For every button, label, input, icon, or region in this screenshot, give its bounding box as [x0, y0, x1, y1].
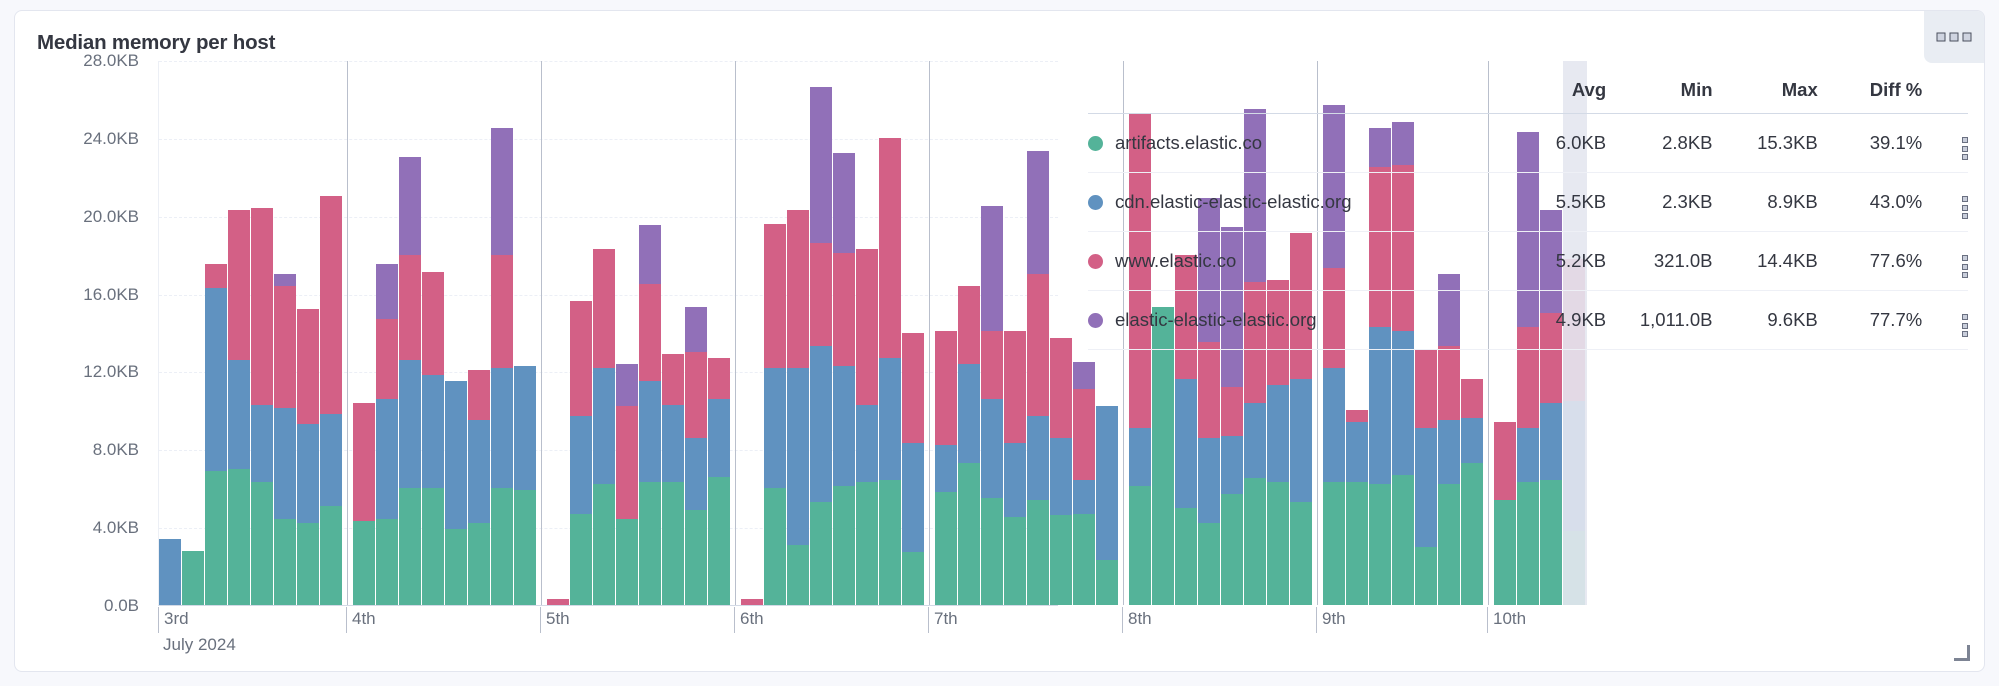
bar-segment[interactable]	[1438, 346, 1460, 420]
bar[interactable]	[1346, 410, 1368, 605]
col-header-max[interactable]: Max	[1713, 73, 1818, 114]
col-header-series	[1088, 73, 1502, 114]
bar-segment[interactable]	[228, 210, 250, 360]
bar-segment[interactable]	[353, 403, 375, 522]
bar-segment[interactable]	[879, 138, 901, 358]
bar-segment[interactable]	[468, 523, 490, 605]
bar-segment[interactable]	[491, 128, 513, 255]
bar[interactable]	[593, 249, 615, 605]
bar-segment[interactable]	[1461, 379, 1483, 418]
bar[interactable]	[547, 599, 569, 605]
bar[interactable]	[685, 307, 707, 605]
bar-segment[interactable]	[662, 354, 684, 405]
series-label: elastic-elastic-elastic.org	[1115, 309, 1317, 331]
bar-segment[interactable]	[182, 551, 204, 606]
bar-segment[interactable]	[376, 399, 398, 520]
bar-segment[interactable]	[1198, 438, 1220, 524]
bar-segment[interactable]	[1323, 482, 1345, 605]
bar[interactable]	[708, 358, 730, 605]
bar-segment[interactable]	[1346, 410, 1368, 422]
col-header-min[interactable]: Min	[1606, 73, 1712, 114]
bar-segment[interactable]	[1129, 428, 1151, 486]
series-color-swatch-icon	[1088, 136, 1103, 151]
bar-segment[interactable]	[1438, 420, 1460, 484]
bar-segment[interactable]	[399, 157, 421, 254]
bar-segment[interactable]	[1050, 438, 1072, 516]
gridline	[159, 61, 1058, 62]
legend-series-cell[interactable]: www.elastic.co	[1088, 232, 1502, 291]
bar[interactable]	[958, 286, 980, 605]
table-row[interactable]: artifacts.elastic.co6.0KB2.8KB15.3KB39.1…	[1088, 114, 1968, 173]
bar[interactable]	[1096, 406, 1118, 605]
bar-segment[interactable]	[902, 333, 924, 444]
bar-segment[interactable]	[833, 366, 855, 487]
x-axis-tick-label: 6th	[734, 607, 764, 633]
bar-segment[interactable]	[981, 206, 1003, 331]
bar-segment[interactable]	[639, 284, 661, 381]
x-axis-tick-label: 10th	[1487, 607, 1526, 633]
vertical-grip-icon[interactable]	[1962, 196, 1968, 219]
bar-segment[interactable]	[810, 243, 832, 346]
legend-max-value: 8.9KB	[1713, 173, 1818, 232]
bar[interactable]	[1004, 331, 1026, 605]
bar-segment[interactable]	[764, 224, 786, 368]
legend-rows: artifacts.elastic.co6.0KB2.8KB15.3KB39.1…	[1088, 114, 1968, 350]
bar[interactable]	[741, 599, 763, 605]
bar-segment[interactable]	[685, 352, 707, 438]
table-header-row: Avg Min Max Diff %	[1088, 73, 1968, 114]
bar-segment[interactable]	[879, 480, 901, 605]
plot-area[interactable]	[158, 61, 1058, 606]
bar-segment[interactable]	[639, 225, 661, 283]
bar[interactable]	[1415, 350, 1437, 605]
bar[interactable]	[399, 157, 421, 605]
bar-segment[interactable]	[1096, 560, 1118, 605]
legend-diff-value: 39.1%	[1818, 114, 1922, 173]
bar-segment[interactable]	[810, 87, 832, 243]
bar-segment[interactable]	[1221, 494, 1243, 605]
bar-segment[interactable]	[1415, 547, 1437, 605]
bar-segment[interactable]	[1517, 428, 1539, 483]
bar-segment[interactable]	[1027, 416, 1049, 500]
bar-segment[interactable]	[833, 153, 855, 252]
bar-segment[interactable]	[491, 255, 513, 368]
legend-diff-value: 77.7%	[1818, 291, 1922, 350]
bar[interactable]	[981, 206, 1003, 605]
bar[interactable]	[879, 138, 901, 605]
bar-segment[interactable]	[1438, 484, 1460, 605]
bar-segment[interactable]	[1129, 486, 1151, 605]
legend-diff-value: 43.0%	[1818, 173, 1922, 232]
legend-min-value: 2.3KB	[1606, 173, 1712, 232]
table-row[interactable]: elastic-elastic-elastic.org4.9KB1,011.0B…	[1088, 291, 1968, 350]
y-axis-tick-label: 28.0KB	[39, 51, 139, 71]
bar-segment[interactable]	[879, 358, 901, 481]
bar-segment[interactable]	[1027, 274, 1049, 416]
bar-segment[interactable]	[662, 405, 684, 483]
bar-segment[interactable]	[856, 405, 878, 483]
bar-segment[interactable]	[422, 375, 444, 488]
legend-series-cell[interactable]: artifacts.elastic.co	[1088, 114, 1502, 173]
day-separator	[929, 61, 930, 605]
bar-segment[interactable]	[422, 272, 444, 375]
bar[interactable]	[320, 196, 342, 605]
bar[interactable]	[514, 366, 536, 605]
x-axis-tick-label: 8th	[1122, 607, 1152, 633]
bar[interactable]	[787, 210, 809, 605]
bar-segment[interactable]	[297, 424, 319, 523]
bar-segment[interactable]	[320, 506, 342, 605]
bar-segment[interactable]	[1073, 362, 1095, 389]
bar-segment[interactable]	[251, 405, 273, 483]
bar-segment[interactable]	[297, 309, 319, 424]
bar-segment[interactable]	[422, 488, 444, 605]
bar-segment[interactable]	[810, 346, 832, 502]
series-color-swatch-icon	[1088, 313, 1103, 328]
table-row[interactable]: www.elastic.co5.2KB321.0B14.4KB77.6%	[1088, 232, 1968, 291]
bar-segment[interactable]	[514, 490, 536, 605]
bar-segment[interactable]	[616, 364, 638, 407]
legend-avg-value: 5.2KB	[1502, 232, 1606, 291]
bar[interactable]	[228, 210, 250, 605]
bar[interactable]	[205, 264, 227, 605]
bar-segment[interactable]	[1198, 342, 1220, 437]
bar-segment[interactable]	[1461, 418, 1483, 463]
bar-segment[interactable]	[514, 366, 536, 491]
col-header-diff[interactable]: Diff %	[1818, 73, 1922, 114]
bar-segment[interactable]	[1494, 500, 1516, 605]
bar-segment[interactable]	[353, 521, 375, 605]
y-axis-tick-label: 12.0KB	[39, 362, 139, 382]
bar-segment[interactable]	[1198, 523, 1220, 605]
bar-segment[interactable]	[274, 286, 296, 409]
legend-max-value: 9.6KB	[1713, 291, 1818, 350]
y-axis-tick-label: 4.0KB	[39, 518, 139, 538]
bar-segment[interactable]	[639, 381, 661, 482]
bar-segment[interactable]	[376, 319, 398, 399]
bar[interactable]	[1027, 151, 1049, 605]
bar[interactable]	[764, 224, 786, 606]
bar-segment[interactable]	[981, 399, 1003, 498]
series-label: cdn.elastic-elastic-elastic.org	[1115, 191, 1351, 213]
legend-series-cell[interactable]: elastic-elastic-elastic.org	[1088, 291, 1502, 350]
bar-segment[interactable]	[1050, 515, 1072, 605]
col-header-avg[interactable]: Avg	[1502, 73, 1606, 114]
bar-segment[interactable]	[1369, 327, 1391, 485]
bar-segment[interactable]	[1267, 482, 1289, 605]
bar-segment[interactable]	[958, 463, 980, 605]
panel-menu-button[interactable]	[1924, 11, 1984, 63]
y-axis-tick-label: 24.0KB	[39, 129, 139, 149]
legend-diff-value: 77.6%	[1818, 232, 1922, 291]
y-axis-labels: 0.0B4.0KB8.0KB12.0KB16.0KB20.0KB24.0KB28…	[27, 61, 139, 641]
y-axis-tick-label: 20.0KB	[39, 207, 139, 227]
vertical-grip-icon[interactable]	[1962, 255, 1968, 278]
y-axis-tick-label: 0.0B	[39, 596, 139, 616]
bar-segment[interactable]	[1290, 379, 1312, 502]
bar[interactable]	[856, 249, 878, 605]
bar-segment[interactable]	[1175, 508, 1197, 605]
bar-segment[interactable]	[981, 498, 1003, 605]
x-axis-tick-label: 9th	[1316, 607, 1346, 633]
bar-segment[interactable]	[228, 360, 250, 469]
bar-segment[interactable]	[274, 408, 296, 519]
bar-segment[interactable]	[1346, 482, 1368, 605]
bar-segment[interactable]	[662, 482, 684, 605]
series-label: artifacts.elastic.co	[1115, 132, 1262, 154]
bar-segment[interactable]	[570, 514, 592, 605]
bar-segment[interactable]	[764, 488, 786, 605]
bar[interactable]	[833, 153, 855, 605]
bar-segment[interactable]	[376, 264, 398, 319]
bar-segment[interactable]	[1290, 502, 1312, 605]
x-axis-labels: July 2024 3rd4th5th6th7th8th9th10th	[158, 607, 1058, 667]
series-label: www.elastic.co	[1115, 250, 1236, 272]
bar[interactable]	[159, 539, 181, 605]
bar-segment[interactable]	[856, 249, 878, 405]
bar-segment[interactable]	[1346, 422, 1368, 482]
bar-segment[interactable]	[1244, 478, 1266, 605]
bar-segment[interactable]	[902, 552, 924, 605]
x-axis-tick-label: 4th	[346, 607, 376, 633]
bar-segment[interactable]	[1540, 480, 1562, 605]
bar-segment[interactable]	[274, 519, 296, 605]
bar[interactable]	[639, 225, 661, 605]
bar[interactable]	[353, 403, 375, 605]
bar[interactable]	[468, 369, 490, 605]
bar-segment[interactable]	[376, 519, 398, 605]
grip-three-squares-icon	[1937, 33, 1972, 42]
bar[interactable]	[662, 354, 684, 605]
bar-segment[interactable]	[685, 307, 707, 352]
bar[interactable]	[810, 87, 832, 605]
bar-segment[interactable]	[320, 196, 342, 414]
bar-segment[interactable]	[297, 523, 319, 605]
bar-segment[interactable]	[685, 510, 707, 605]
bar-segment[interactable]	[1073, 514, 1095, 605]
vertical-grip-icon[interactable]	[1962, 137, 1968, 160]
gridline	[159, 217, 1058, 218]
bar-segment[interactable]	[1267, 385, 1289, 482]
bar[interactable]	[902, 333, 924, 606]
resize-corner-icon[interactable]	[1954, 645, 1970, 661]
bar-segment[interactable]	[1221, 436, 1243, 494]
bar-segment[interactable]	[708, 399, 730, 477]
day-separator	[347, 61, 348, 605]
bar-segment[interactable]	[1517, 482, 1539, 605]
bar-segment[interactable]	[1096, 406, 1118, 560]
bar-segment[interactable]	[570, 416, 592, 513]
bar-segment[interactable]	[251, 482, 273, 605]
y-axis-tick-label: 16.0KB	[39, 285, 139, 305]
bar-segment[interactable]	[833, 486, 855, 605]
bar-segment[interactable]	[787, 545, 809, 605]
bar-segment[interactable]	[708, 477, 730, 605]
bar-segment[interactable]	[445, 529, 467, 605]
bar[interactable]	[251, 208, 273, 605]
bar-segment[interactable]	[935, 492, 957, 605]
legend-max-value: 15.3KB	[1713, 114, 1818, 173]
bar-segment[interactable]	[787, 368, 809, 545]
bar[interactable]	[182, 551, 204, 606]
bar[interactable]	[616, 364, 638, 605]
series-color-swatch-icon	[1088, 195, 1103, 210]
legend-min-value: 321.0B	[1606, 232, 1712, 291]
bar-segment[interactable]	[251, 208, 273, 405]
row-actions-cell[interactable]	[1922, 232, 1968, 291]
bar-segment[interactable]	[570, 301, 592, 416]
day-separator	[541, 61, 542, 605]
bar-segment[interactable]	[958, 364, 980, 463]
series-color-swatch-icon	[1088, 254, 1103, 269]
bar-segment[interactable]	[205, 288, 227, 471]
legend-min-value: 2.8KB	[1606, 114, 1712, 173]
bar-segment[interactable]	[958, 286, 980, 364]
bar-segment[interactable]	[205, 471, 227, 605]
bar-segment[interactable]	[1392, 331, 1414, 475]
bar-segment[interactable]	[1415, 350, 1437, 428]
bar-segment[interactable]	[639, 482, 661, 605]
bar-segment[interactable]	[205, 264, 227, 287]
bar-segment[interactable]	[445, 381, 467, 529]
bar-segment[interactable]	[935, 331, 957, 446]
bar-segment[interactable]	[593, 484, 615, 605]
bar-segment[interactable]	[1004, 517, 1026, 605]
bar-segment[interactable]	[399, 488, 421, 605]
bar-segment[interactable]	[274, 274, 296, 286]
bar-segment[interactable]	[787, 210, 809, 368]
legend-series-cell[interactable]: cdn.elastic-elastic-elastic.org	[1088, 173, 1502, 232]
bar-segment[interactable]	[547, 599, 569, 605]
bar-segment[interactable]	[593, 249, 615, 368]
legend-avg-value: 5.5KB	[1502, 173, 1606, 232]
bar[interactable]	[274, 274, 296, 605]
bar-segment[interactable]	[685, 438, 707, 510]
bar-segment[interactable]	[1152, 307, 1174, 605]
bar-segment[interactable]	[159, 539, 181, 605]
bar-segment[interactable]	[1540, 403, 1562, 481]
bar-segment[interactable]	[1027, 151, 1049, 274]
legend-min-value: 1,011.0B	[1606, 291, 1712, 350]
bar-segment[interactable]	[468, 370, 490, 421]
bar-segment[interactable]	[1369, 484, 1391, 605]
bar-segment[interactable]	[616, 406, 638, 519]
bar[interactable]	[297, 309, 319, 605]
y-axis-tick-label: 8.0KB	[39, 440, 139, 460]
chart-area: 0.0B4.0KB8.0KB12.0KB16.0KB20.0KB24.0KB28…	[15, 61, 1075, 641]
series-table: Avg Min Max Diff % artifacts.elastic.co6…	[1088, 73, 1968, 350]
bar-segment[interactable]	[708, 358, 730, 399]
bar-segment[interactable]	[981, 331, 1003, 399]
bar-segment[interactable]	[491, 368, 513, 489]
table-row[interactable]: cdn.elastic-elastic-elastic.org5.5KB2.3K…	[1088, 173, 1968, 232]
legend-avg-value: 4.9KB	[1502, 291, 1606, 350]
bar-segment[interactable]	[1461, 463, 1483, 605]
x-axis-tick-label: 5th	[540, 607, 570, 633]
bar-segment[interactable]	[616, 519, 638, 605]
x-axis-tick-label: 3rd	[158, 607, 189, 633]
col-header-actions	[1922, 73, 1968, 114]
bar-segment[interactable]	[1244, 403, 1266, 479]
bar-segment[interactable]	[1004, 331, 1026, 444]
bar[interactable]	[445, 381, 467, 605]
bar-segment[interactable]	[1392, 475, 1414, 605]
legend-avg-value: 6.0KB	[1502, 114, 1606, 173]
bar-segment[interactable]	[399, 360, 421, 488]
bar-segment[interactable]	[1073, 389, 1095, 480]
bar-segment[interactable]	[1415, 428, 1437, 547]
bar-segment[interactable]	[1027, 500, 1049, 605]
bar[interactable]	[1152, 307, 1174, 605]
bar-segment[interactable]	[833, 253, 855, 366]
bar-segment[interactable]	[399, 255, 421, 360]
bar-segment[interactable]	[1004, 443, 1026, 517]
bar[interactable]	[935, 331, 957, 605]
vertical-grip-icon[interactable]	[1962, 314, 1968, 337]
bar-segment[interactable]	[741, 599, 763, 605]
legend-max-value: 14.4KB	[1713, 232, 1818, 291]
bar-segment[interactable]	[228, 469, 250, 605]
bar-segment[interactable]	[856, 482, 878, 605]
x-axis-unit-label: July 2024	[163, 635, 236, 655]
bar[interactable]	[570, 301, 592, 605]
bar-segment[interactable]	[491, 488, 513, 605]
bar-segment[interactable]	[1323, 368, 1345, 483]
bar-segment[interactable]	[1050, 338, 1072, 437]
legend-table: Avg Min Max Diff % artifacts.elastic.co6…	[1088, 73, 1968, 350]
bar-segment[interactable]	[593, 368, 615, 485]
bar[interactable]	[376, 264, 398, 605]
row-actions-cell[interactable]	[1922, 114, 1968, 173]
bar-segment[interactable]	[1494, 422, 1516, 500]
day-separator	[735, 61, 736, 605]
bar[interactable]	[1494, 422, 1516, 605]
bar[interactable]	[422, 272, 444, 605]
row-actions-cell[interactable]	[1922, 173, 1968, 232]
x-axis-tick-label: 7th	[928, 607, 958, 633]
bar-segment[interactable]	[902, 443, 924, 552]
bar-segment[interactable]	[1175, 379, 1197, 507]
bar[interactable]	[491, 128, 513, 605]
bar-segment[interactable]	[810, 502, 832, 605]
bar-segment[interactable]	[1221, 387, 1243, 436]
bar-segment[interactable]	[1073, 480, 1095, 513]
chart-panel: Median memory per host 0.0B4.0KB8.0KB12.…	[14, 10, 1985, 672]
bar[interactable]	[1073, 362, 1095, 605]
bar[interactable]	[1461, 379, 1483, 605]
bar-segment[interactable]	[468, 420, 490, 523]
bar-segment[interactable]	[935, 445, 957, 492]
row-actions-cell[interactable]	[1922, 291, 1968, 350]
bar-segment[interactable]	[320, 414, 342, 505]
bar[interactable]	[1050, 338, 1072, 605]
gridline	[159, 139, 1058, 140]
bar-segment[interactable]	[764, 368, 786, 489]
